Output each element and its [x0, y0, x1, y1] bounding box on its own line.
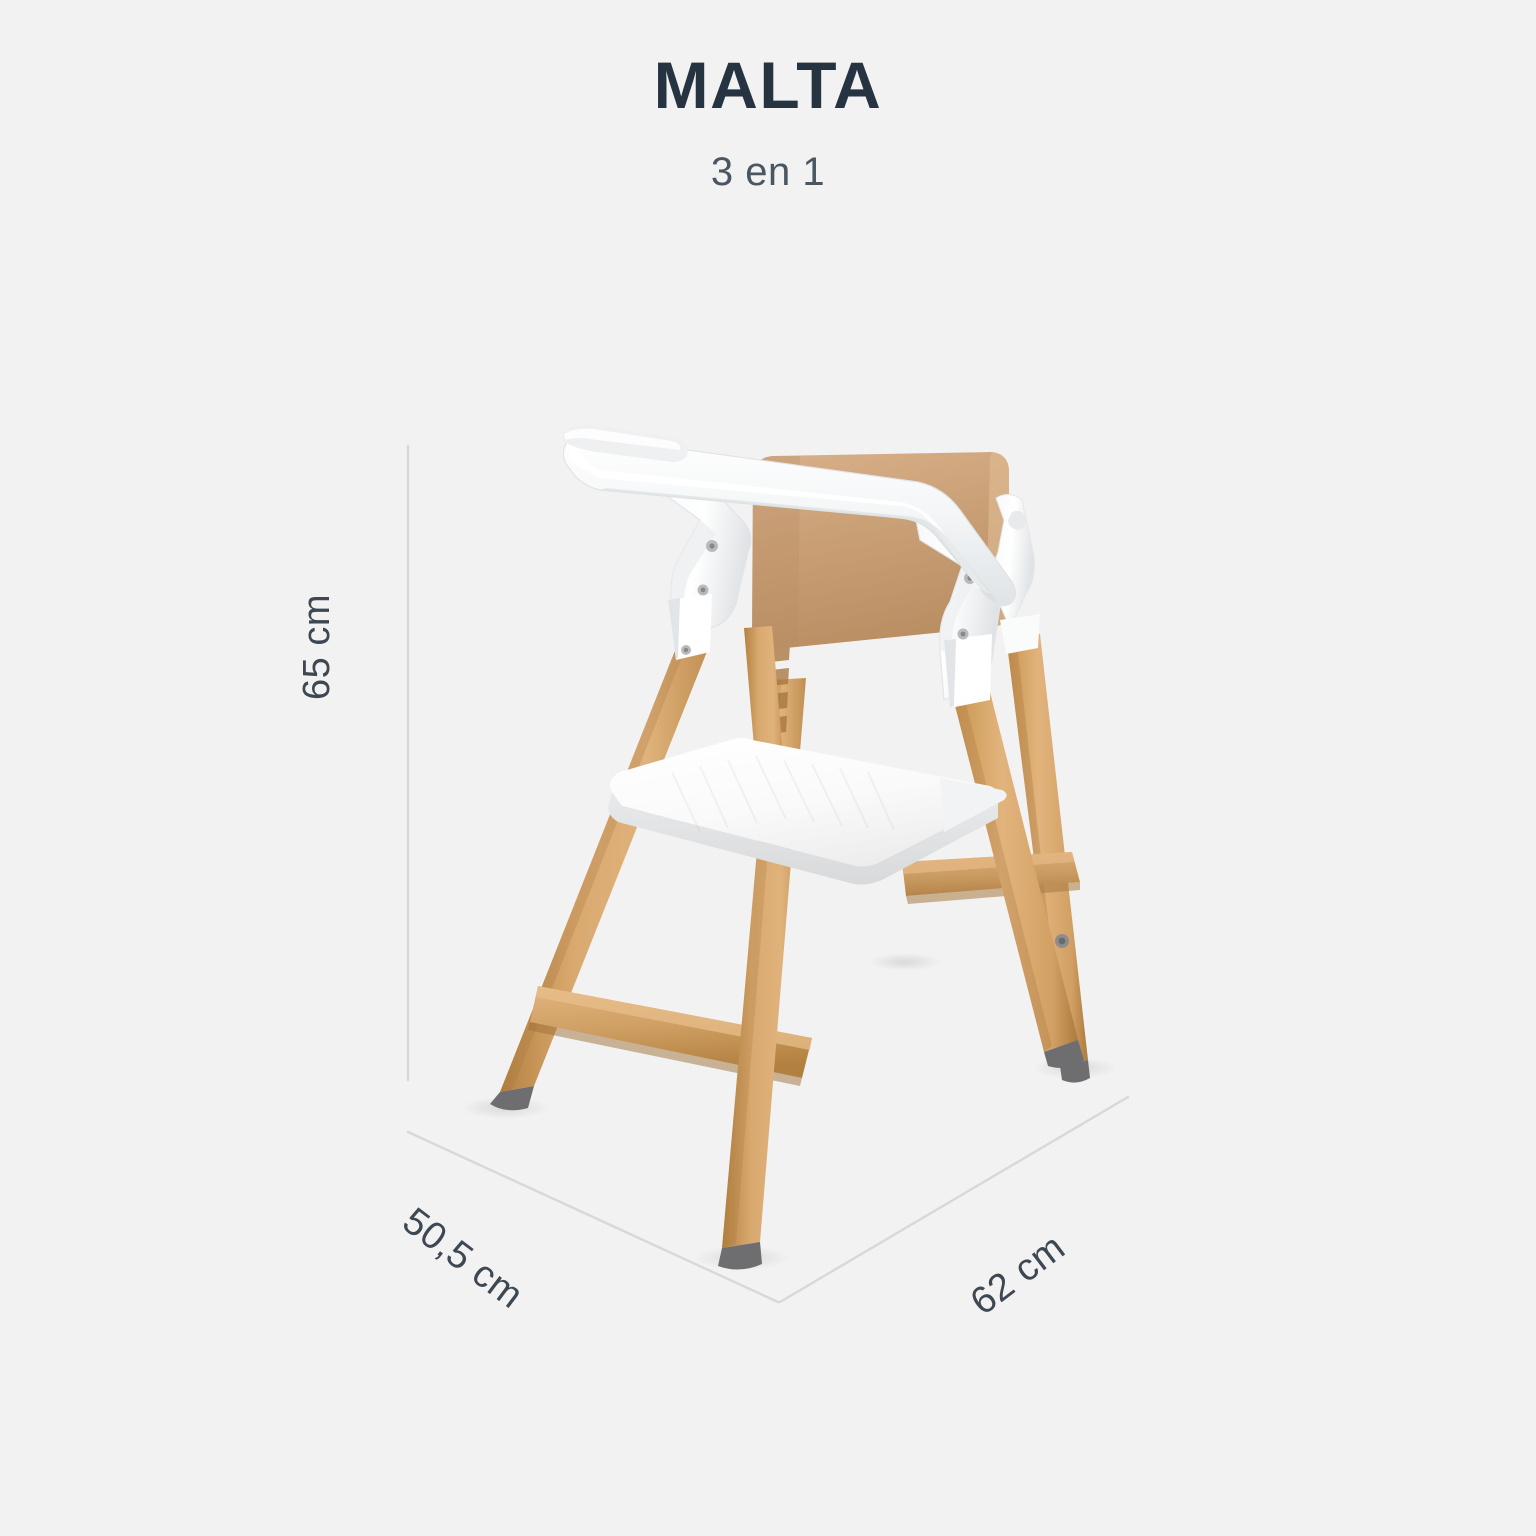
- product-illustration: [0, 0, 1536, 1536]
- product-dimension-sheet: MALTA 3 en 1: [0, 0, 1536, 1536]
